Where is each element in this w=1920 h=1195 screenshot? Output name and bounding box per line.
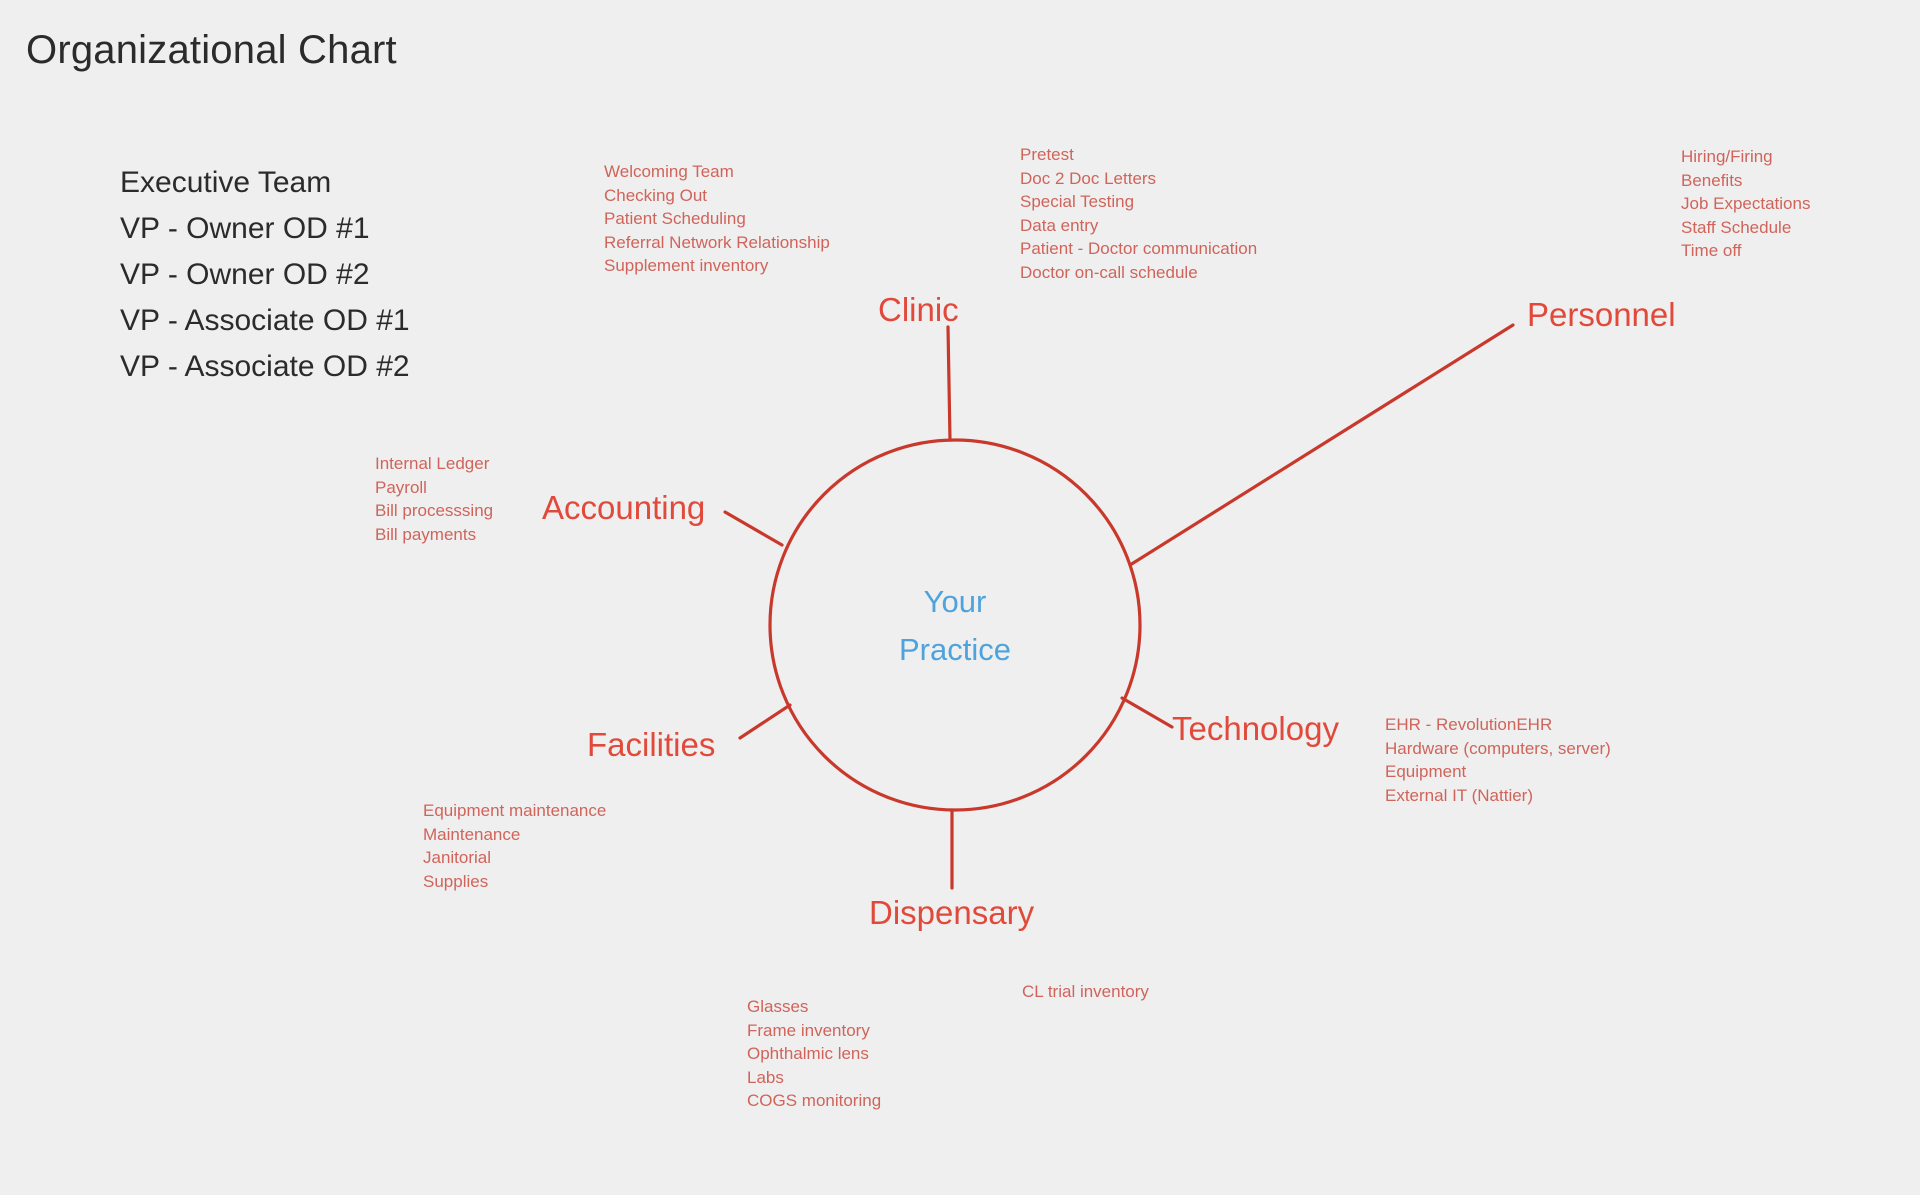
connector-lines-layer (0, 0, 1920, 1195)
detail-item: Supplies (423, 870, 606, 894)
hub-circle (770, 440, 1140, 810)
detail-item: Doctor on-call schedule (1020, 261, 1257, 285)
detail-list-technology: EHR - RevolutionEHR Hardware (computers,… (1385, 713, 1611, 807)
detail-item: Labs (747, 1066, 881, 1090)
branch-label-technology[interactable]: Technology (1172, 710, 1339, 748)
detail-item: Patient Scheduling (604, 207, 830, 231)
detail-item: Equipment (1385, 760, 1611, 784)
detail-list-dispensary: Glasses Frame inventory Ophthalmic lens … (747, 995, 881, 1113)
detail-item: Checking Out (604, 184, 830, 208)
detail-item: Internal Ledger (375, 452, 493, 476)
detail-item: Referral Network Relationship (604, 231, 830, 255)
detail-item: Maintenance (423, 823, 606, 847)
detail-list-personnel: Hiring/Firing Benefits Job Expectations … (1681, 145, 1810, 263)
detail-item: Equipment maintenance (423, 799, 606, 823)
detail-item: Frame inventory (747, 1019, 881, 1043)
detail-item: Janitorial (423, 846, 606, 870)
detail-item: Hardware (computers, server) (1385, 737, 1611, 761)
detail-item: Staff Schedule (1681, 216, 1810, 240)
detail-item: Bill processsing (375, 499, 493, 523)
branch-label-personnel[interactable]: Personnel (1527, 296, 1676, 334)
branch-label-accounting[interactable]: Accounting (542, 489, 705, 527)
branch-label-facilities[interactable]: Facilities (587, 726, 715, 764)
detail-item: Hiring/Firing (1681, 145, 1810, 169)
detail-item: Doc 2 Doc Letters (1020, 167, 1257, 191)
detail-item: Data entry (1020, 214, 1257, 238)
detail-item: CL trial inventory (1022, 980, 1149, 1004)
branch-label-dispensary[interactable]: Dispensary (869, 894, 1034, 932)
detail-item: Benefits (1681, 169, 1810, 193)
connector-personnel (1130, 325, 1513, 565)
detail-list-dispensary-secondary: CL trial inventory (1022, 980, 1149, 1004)
detail-list-clinic-left: Welcoming Team Checking Out Patient Sche… (604, 160, 830, 278)
detail-item: Supplement inventory (604, 254, 830, 278)
connector-accounting (725, 512, 782, 545)
diagram-canvas: Organizational Chart Executive Team VP -… (0, 0, 1920, 1195)
detail-item: Welcoming Team (604, 160, 830, 184)
branch-label-clinic[interactable]: Clinic (878, 291, 959, 329)
detail-item: Job Expectations (1681, 192, 1810, 216)
detail-item: EHR - RevolutionEHR (1385, 713, 1611, 737)
detail-item: External IT (Nattier) (1385, 784, 1611, 808)
connector-clinic (948, 327, 950, 440)
detail-item: Glasses (747, 995, 881, 1019)
detail-item: Time off (1681, 239, 1810, 263)
detail-list-facilities: Equipment maintenance Maintenance Janito… (423, 799, 606, 893)
detail-item: COGS monitoring (747, 1089, 881, 1113)
detail-list-accounting: Internal Ledger Payroll Bill processsing… (375, 452, 493, 546)
detail-list-clinic-right: Pretest Doc 2 Doc Letters Special Testin… (1020, 143, 1257, 284)
connector-facilities (740, 705, 790, 738)
detail-item: Payroll (375, 476, 493, 500)
detail-item: Special Testing (1020, 190, 1257, 214)
connector-technology (1122, 698, 1172, 727)
detail-item: Pretest (1020, 143, 1257, 167)
detail-item: Bill payments (375, 523, 493, 547)
detail-item: Patient - Doctor communication (1020, 237, 1257, 261)
detail-item: Ophthalmic lens (747, 1042, 881, 1066)
